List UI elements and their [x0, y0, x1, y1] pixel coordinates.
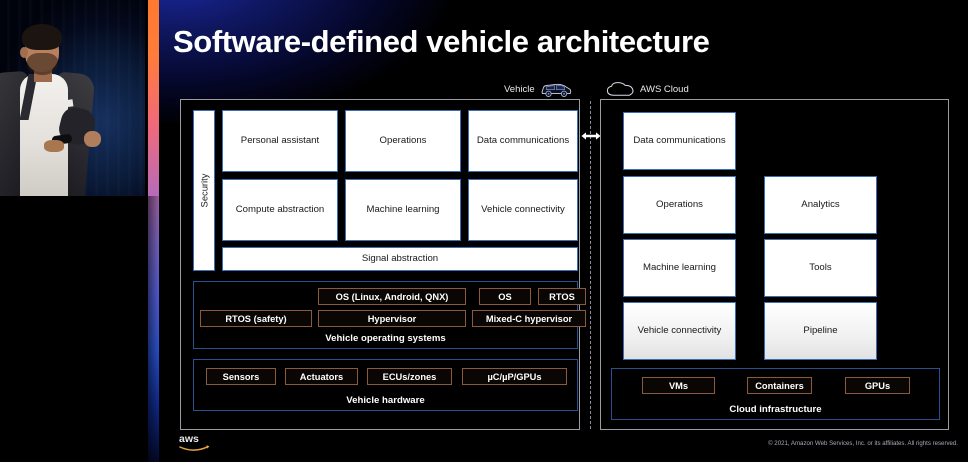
- card-vehicle-connectivity[interactable]: Vehicle connectivity: [468, 179, 578, 241]
- speaker-ear: [20, 47, 28, 58]
- double-arrow-icon: [581, 130, 601, 142]
- chip-hypervisor[interactable]: Hypervisor: [318, 310, 466, 327]
- card-analytics[interactable]: Analytics: [764, 176, 877, 234]
- van-icon: [540, 81, 572, 98]
- speaker-hand-right: [84, 131, 101, 147]
- chip-rtos[interactable]: RTOS: [538, 288, 586, 305]
- card-pipeline[interactable]: Pipeline: [764, 302, 877, 360]
- vehicle-hardware-caption: Vehicle hardware: [194, 395, 577, 406]
- slide-canvas: Software-defined vehicle architecture Ve…: [159, 0, 968, 462]
- chip-uc-up-gpus[interactable]: µC/µP/GPUs: [462, 368, 567, 385]
- card-cloud-data-communications[interactable]: Data communications: [623, 112, 736, 170]
- connector: [583, 101, 598, 429]
- chip-ecus-zones[interactable]: ECUs/zones: [367, 368, 452, 385]
- card-tools[interactable]: Tools: [764, 239, 877, 297]
- chip-mixed-c-hypervisor[interactable]: Mixed-C hypervisor: [472, 310, 586, 327]
- card-personal-assistant[interactable]: Personal assistant: [222, 110, 338, 172]
- speaker-hair: [22, 24, 62, 50]
- security-strip: Security: [193, 110, 215, 271]
- cloud-infrastructure-caption: Cloud infrastructure: [612, 404, 939, 415]
- vehicle-operating-systems-group: OS (Linux, Android, QNX) OS RTOS RTOS (s…: [193, 281, 578, 349]
- accent-gradient-bar-shade: [148, 196, 159, 462]
- cloud-caption-label: AWS Cloud: [640, 84, 689, 95]
- cloud-panel: Data communications Operations Machine l…: [600, 99, 949, 430]
- svg-text:aws: aws: [179, 433, 199, 445]
- chip-os-linux-android-qnx[interactable]: OS (Linux, Android, QNX): [318, 288, 466, 305]
- copyright-text: © 2021, Amazon Web Services, Inc. or its…: [768, 440, 958, 447]
- chip-containers[interactable]: Containers: [747, 377, 812, 394]
- vehicle-caption: Vehicle: [504, 81, 572, 98]
- speaker-hand-left: [44, 140, 64, 152]
- speaker-video-pane: [0, 0, 145, 462]
- vehicle-caption-label: Vehicle: [504, 84, 535, 95]
- screen: Software-defined vehicle architecture Ve…: [0, 0, 968, 462]
- cloud-caption: AWS Cloud: [606, 81, 689, 98]
- card-cloud-vehicle-connectivity[interactable]: Vehicle connectivity: [623, 302, 736, 360]
- card-signal-abstraction[interactable]: Signal abstraction: [222, 247, 578, 271]
- card-compute-abstraction[interactable]: Compute abstraction: [222, 179, 338, 241]
- card-machine-learning[interactable]: Machine learning: [345, 179, 461, 241]
- aws-logo: aws: [178, 432, 212, 454]
- chip-vms[interactable]: VMs: [642, 377, 715, 394]
- slide-title: Software-defined vehicle architecture: [173, 24, 709, 60]
- chip-rtos-safety[interactable]: RTOS (safety): [200, 310, 312, 327]
- card-data-communications[interactable]: Data communications: [468, 110, 578, 172]
- vehicle-panel: Security Personal assistant Operations D…: [180, 99, 580, 430]
- speaker-beard: [27, 53, 58, 75]
- chip-gpus[interactable]: GPUs: [845, 377, 910, 394]
- chip-sensors[interactable]: Sensors: [206, 368, 276, 385]
- security-label: Security: [199, 174, 210, 208]
- card-cloud-machine-learning[interactable]: Machine learning: [623, 239, 736, 297]
- card-cloud-operations[interactable]: Operations: [623, 176, 736, 234]
- connector-dashed-line: [590, 101, 591, 429]
- vehicle-hardware-group: Sensors Actuators ECUs/zones µC/µP/GPUs …: [193, 359, 578, 411]
- cloud-icon: [606, 81, 635, 98]
- chip-actuators[interactable]: Actuators: [285, 368, 358, 385]
- vehicle-operating-systems-caption: Vehicle operating systems: [194, 333, 577, 344]
- card-operations[interactable]: Operations: [345, 110, 461, 172]
- cloud-infrastructure-group: VMs Containers GPUs Cloud infrastructure: [611, 368, 940, 420]
- chip-os[interactable]: OS: [479, 288, 531, 305]
- speaker-video-frame: [0, 0, 145, 196]
